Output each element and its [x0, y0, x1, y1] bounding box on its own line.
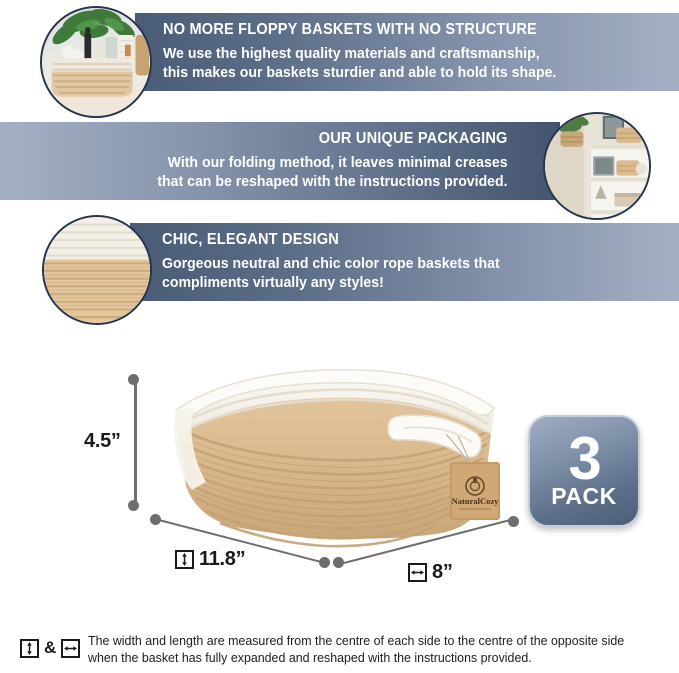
feature-banner-chic-elegant-design: CHIC, ELEGANT DESIGN Gorgeous neutral an…: [130, 223, 679, 301]
pack-count-badge: 3 PACK: [528, 415, 640, 527]
ampersand-label: &: [44, 638, 56, 658]
footnote-icon-group: &: [20, 632, 80, 658]
height-dimension-dot-top: [128, 374, 139, 385]
dimension-dot-center-left: [319, 557, 330, 568]
banner-photo-rope-texture: [42, 215, 152, 325]
banner-heading: NO MORE FLOPPY BASKETS WITH NO STRUCTURE: [163, 21, 556, 39]
measurement-footnote: & The width and length are measured from…: [20, 632, 660, 667]
banner-text-block: NO MORE FLOPPY BASKETS WITH NO STRUCTURE…: [163, 21, 581, 82]
rope-texture-closeup-photo: [44, 217, 150, 323]
length-dimension-dot-left: [150, 514, 161, 525]
brand-hang-tag: NaturalCozy: [450, 462, 500, 520]
basket-with-plants-and-toiletries-photo: [42, 8, 150, 116]
height-dimension-line: [134, 380, 137, 505]
horizontal-arrow-icon: [61, 639, 80, 658]
banner-body-line-1: We use the highest quality materials and…: [163, 44, 556, 63]
banner-body-line-1: Gorgeous neutral and chic color rope bas…: [162, 254, 500, 273]
horizontal-arrow-icon: [408, 563, 427, 582]
banner-heading: OUR UNIQUE PACKAGING: [158, 130, 508, 148]
banner-text-block: OUR UNIQUE PACKAGING With our folding me…: [135, 130, 508, 191]
feature-banner-no-floppy-baskets: NO MORE FLOPPY BASKETS WITH NO STRUCTURE…: [135, 13, 679, 91]
footnote-text-block: The width and length are measured from t…: [88, 632, 641, 667]
svg-text:NaturalCozy: NaturalCozy: [452, 496, 499, 506]
height-dimension-dot-bottom: [128, 500, 139, 511]
length-dimension-label: 11.8”: [199, 548, 245, 571]
banner-body-line-2: this makes our baskets sturdier and able…: [163, 63, 556, 82]
shelf-with-baskets-photo: [545, 114, 649, 218]
footnote-line-1: The width and length are measured from t…: [88, 632, 624, 649]
vertical-arrow-icon: [175, 550, 194, 569]
banner-body-line-2: compliments virtually any styles!: [162, 273, 500, 292]
width-dimension-group: 8”: [408, 561, 453, 584]
height-dimension-label: 4.5”: [84, 430, 121, 453]
banner-body-line-2: that can be reshaped with the instructio…: [158, 172, 508, 191]
banner-photo-basket-with-plants: [40, 6, 152, 118]
footnote-line-2: when the basket has fully expanded and r…: [88, 649, 624, 666]
banner-text-block: CHIC, ELEGANT DESIGN Gorgeous neutral an…: [162, 231, 521, 292]
width-dimension-label: 8”: [432, 561, 453, 584]
banner-heading: CHIC, ELEGANT DESIGN: [162, 231, 500, 249]
length-dimension-group: 11.8”: [175, 548, 245, 571]
pack-count-number: 3: [568, 434, 599, 483]
pack-count-word: PACK: [551, 485, 616, 508]
vertical-arrow-icon: [20, 639, 39, 658]
dimension-dot-center-right: [333, 557, 344, 568]
banner-body-line-1: With our folding method, it leaves minim…: [158, 153, 508, 172]
width-dimension-dot-right: [508, 516, 519, 527]
banner-photo-shelf-with-baskets: [543, 112, 651, 220]
feature-banner-unique-packaging: OUR UNIQUE PACKAGING With our folding me…: [0, 122, 560, 200]
